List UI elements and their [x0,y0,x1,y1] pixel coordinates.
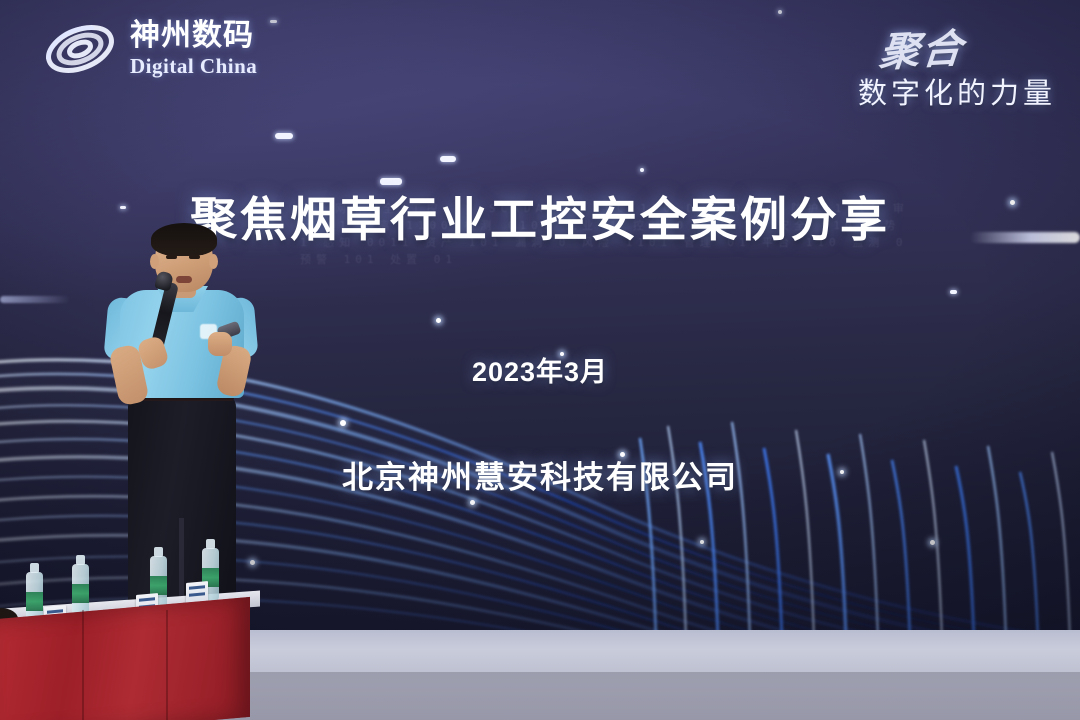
bottle-label [72,584,89,603]
table-skirt-red [0,597,250,720]
particle-dash [440,156,456,162]
speaker-mouth [176,276,192,283]
speaker-eye-left [166,255,177,259]
event-slogan: 聚合 数字化的力量 [858,18,1056,112]
speaker-hair [151,223,217,256]
foreground-table [0,560,280,720]
particle-dash [275,133,293,139]
water-bottle [72,564,89,616]
speaker-eye-right [189,255,200,259]
slogan-brush-text: 聚合 [877,16,967,78]
speaker-ear-right [209,254,218,269]
skirt-fold [166,610,168,720]
speaker-hand-right [208,332,232,356]
light-streak-left [0,296,70,303]
particle-dot [640,168,644,172]
digital-china-swirl-icon [42,18,118,80]
logo-name-cn: 神州数码 [130,21,257,51]
speaker-ear-left [150,254,159,269]
bottle-label [26,592,43,611]
particle-dot [778,10,782,14]
conference-photo-scene: 01 网络安全 工控 10 SCADA 01 PLC 110 DCS 0110 … [0,0,1080,720]
bottle-label [150,576,167,595]
skirt-fold [82,610,84,720]
particle-dot [270,20,277,23]
logo-name-en: Digital China [130,56,257,77]
particle-dot [950,290,957,294]
particle-glow [436,318,441,323]
digital-china-logo: 神州数码 Digital China [42,18,257,80]
logo-wordmark: 神州数码 Digital China [130,21,257,77]
